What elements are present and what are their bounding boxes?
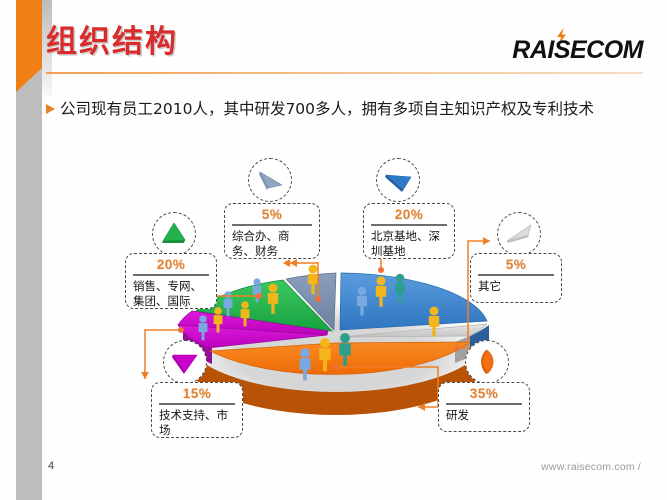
bullet-arrow-icon — [44, 100, 60, 118]
callout-rd-percent: 35% — [446, 385, 522, 402]
badge-slice-bases — [376, 158, 420, 202]
callout-bases-rule — [371, 224, 447, 226]
callout-admin[interactable]: 5% 综合办、商务、财务 — [224, 203, 320, 259]
slice-magenta-icon — [168, 345, 202, 379]
bullet-text: 公司现有员工2010人，其中研发700多人，拥有多项自主知识产权及专利技术 — [60, 97, 594, 122]
callout-support[interactable]: 15% 技术支持、市场 — [151, 382, 243, 438]
badge-slice-admin — [248, 158, 292, 202]
slide-canvas: 组织结构 RAISECOM 公司现有员工2010人，其中研发700多人，拥有多项… — [0, 0, 667, 500]
badge-slice-rd — [465, 340, 509, 384]
page-number: 4 — [48, 460, 54, 472]
website-url: www.raisecom.com / — [541, 461, 641, 473]
slice-blue-icon — [381, 163, 415, 197]
pie-chart-graphic — [0, 145, 667, 450]
callout-other-label: 其它 — [478, 279, 554, 295]
raisecom-logo: RAISECOM — [512, 36, 643, 65]
slice-slate-icon — [253, 163, 287, 197]
badge-slice-support — [163, 340, 207, 384]
slice-gray-icon — [502, 217, 536, 251]
bullet-row: 公司现有员工2010人，其中研发700多人，拥有多项自主知识产权及专利技术 — [44, 97, 644, 122]
slice-orange-icon — [470, 345, 504, 379]
org-pie-chart — [0, 145, 667, 450]
callout-sales-label: 销售、专网、集团、国际 — [133, 279, 209, 310]
page-title: 组织结构 — [46, 16, 178, 61]
callout-bases[interactable]: 20% 北京基地、深圳基地 — [363, 203, 455, 259]
callout-sales[interactable]: 20% 销售、专网、集团、国际 — [125, 253, 217, 309]
callout-admin-percent: 5% — [232, 206, 312, 223]
callout-other-percent: 5% — [478, 256, 554, 273]
callout-support-percent: 15% — [159, 385, 235, 402]
callout-bases-percent: 20% — [371, 206, 447, 223]
callout-rd[interactable]: 35% 研发 — [438, 382, 530, 432]
callout-admin-label: 综合办、商务、财务 — [232, 229, 312, 260]
badge-slice-sales — [152, 212, 196, 256]
callout-rd-rule — [446, 403, 522, 405]
slice-green-icon — [157, 217, 191, 251]
left-rail-orange — [16, 0, 42, 68]
callout-other[interactable]: 5% 其它 — [470, 253, 562, 303]
callout-sales-percent: 20% — [133, 256, 209, 273]
callout-support-label: 技术支持、市场 — [159, 408, 235, 439]
callout-admin-rule — [232, 224, 312, 226]
callout-rd-label: 研发 — [446, 408, 522, 424]
callout-other-rule — [478, 274, 554, 276]
header-divider — [46, 72, 643, 74]
badge-slice-other — [497, 212, 541, 256]
callout-sales-rule — [133, 274, 209, 276]
callout-support-rule — [159, 403, 235, 405]
callout-bases-label: 北京基地、深圳基地 — [371, 229, 447, 260]
